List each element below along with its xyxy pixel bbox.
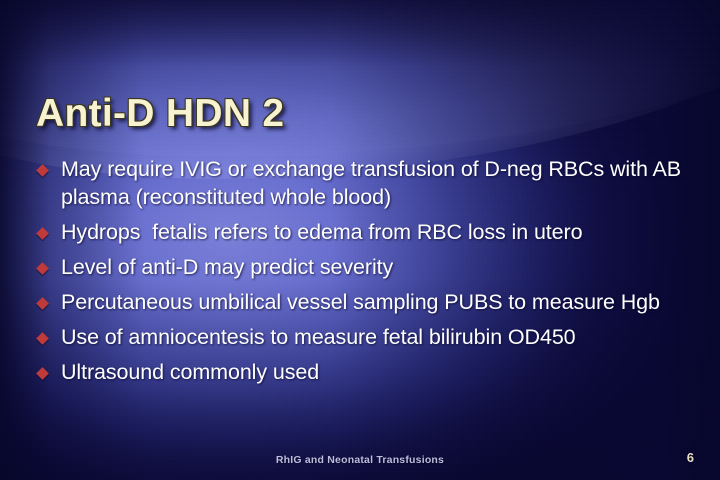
list-item: Level of anti-D may predict severity — [38, 254, 686, 282]
list-item-text: Use of amniocentesis to measure fetal bi… — [61, 324, 686, 352]
list-item-text: Level of anti-D may predict severity — [61, 254, 686, 282]
list-item: Percutaneous umbilical vessel sampling P… — [38, 289, 686, 317]
list-item-text: Ultrasound commonly used — [61, 359, 686, 387]
bullet-list: May require IVIG or exchange transfusion… — [38, 156, 686, 394]
slide-title: Anti-D HDN 2 — [36, 92, 284, 136]
list-item-text: Percutaneous umbilical vessel sampling P… — [61, 289, 686, 317]
diamond-bullet-icon — [36, 297, 49, 310]
list-item: Ultrasound commonly used — [38, 359, 686, 387]
list-item: Use of amniocentesis to measure fetal bi… — [38, 324, 686, 352]
list-item: Hydrops fetalis refers to edema from RBC… — [38, 219, 686, 247]
diamond-bullet-icon — [36, 262, 49, 275]
diamond-bullet-icon — [36, 332, 49, 345]
list-item-text: May require IVIG or exchange transfusion… — [61, 156, 686, 212]
list-item-text: Hydrops fetalis refers to edema from RBC… — [61, 219, 686, 247]
diamond-bullet-icon — [36, 227, 49, 240]
slide-footer: RhIG and Neonatal Transfusions — [0, 454, 720, 466]
list-item: May require IVIG or exchange transfusion… — [38, 156, 686, 212]
presentation-slide: Anti-D HDN 2 May require IVIG or exchang… — [0, 0, 720, 480]
diamond-bullet-icon — [36, 164, 49, 177]
diamond-bullet-icon — [36, 367, 49, 380]
slide-page-number: 6 — [687, 450, 694, 465]
